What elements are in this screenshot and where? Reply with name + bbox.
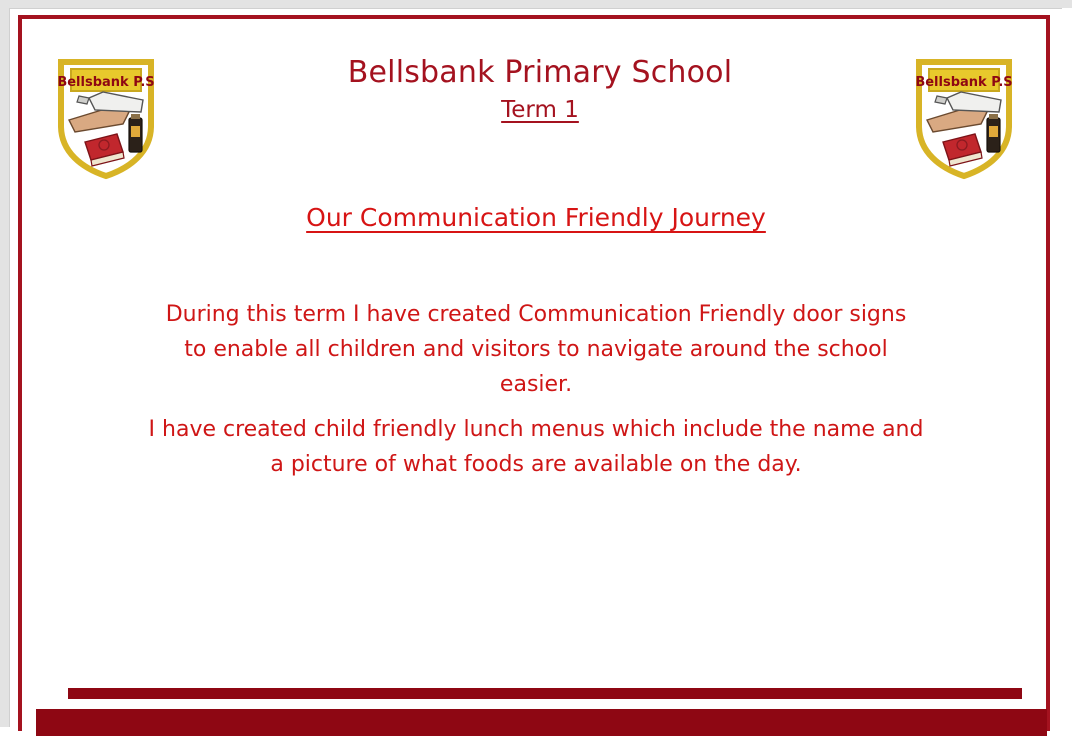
title-block: Bellsbank Primary School Term 1 (190, 53, 890, 125)
document-page: Bellsbank P.S (10, 9, 1062, 727)
viewport-right-gutter (1062, 8, 1072, 727)
footer-bar-thick (36, 709, 1047, 736)
school-crest-right: Bellsbank P.S (913, 56, 1015, 180)
viewport-top-gutter (0, 0, 1072, 9)
section-heading: Our Communication Friendly Journey (10, 201, 1062, 235)
school-crest-left: Bellsbank P.S (55, 56, 157, 180)
school-title: Bellsbank Primary School (190, 53, 890, 93)
footer-bar-thin (68, 688, 1022, 699)
crest-banner-text: Bellsbank P.S (915, 75, 1012, 90)
page-content: Our Communication Friendly Journey Durin… (10, 189, 1062, 482)
paragraph-lunch-menus: I have created child friendly lunch menu… (141, 412, 931, 482)
document-viewport: Bellsbank P.S (0, 0, 1072, 727)
paragraph-door-signs: During this term I have created Communic… (156, 297, 916, 402)
crest-banner-text: Bellsbank P.S (57, 75, 154, 90)
page-header: Bellsbank P.S (10, 9, 1062, 189)
viewport-left-gutter (0, 8, 10, 727)
term-label: Term 1 (190, 95, 890, 125)
